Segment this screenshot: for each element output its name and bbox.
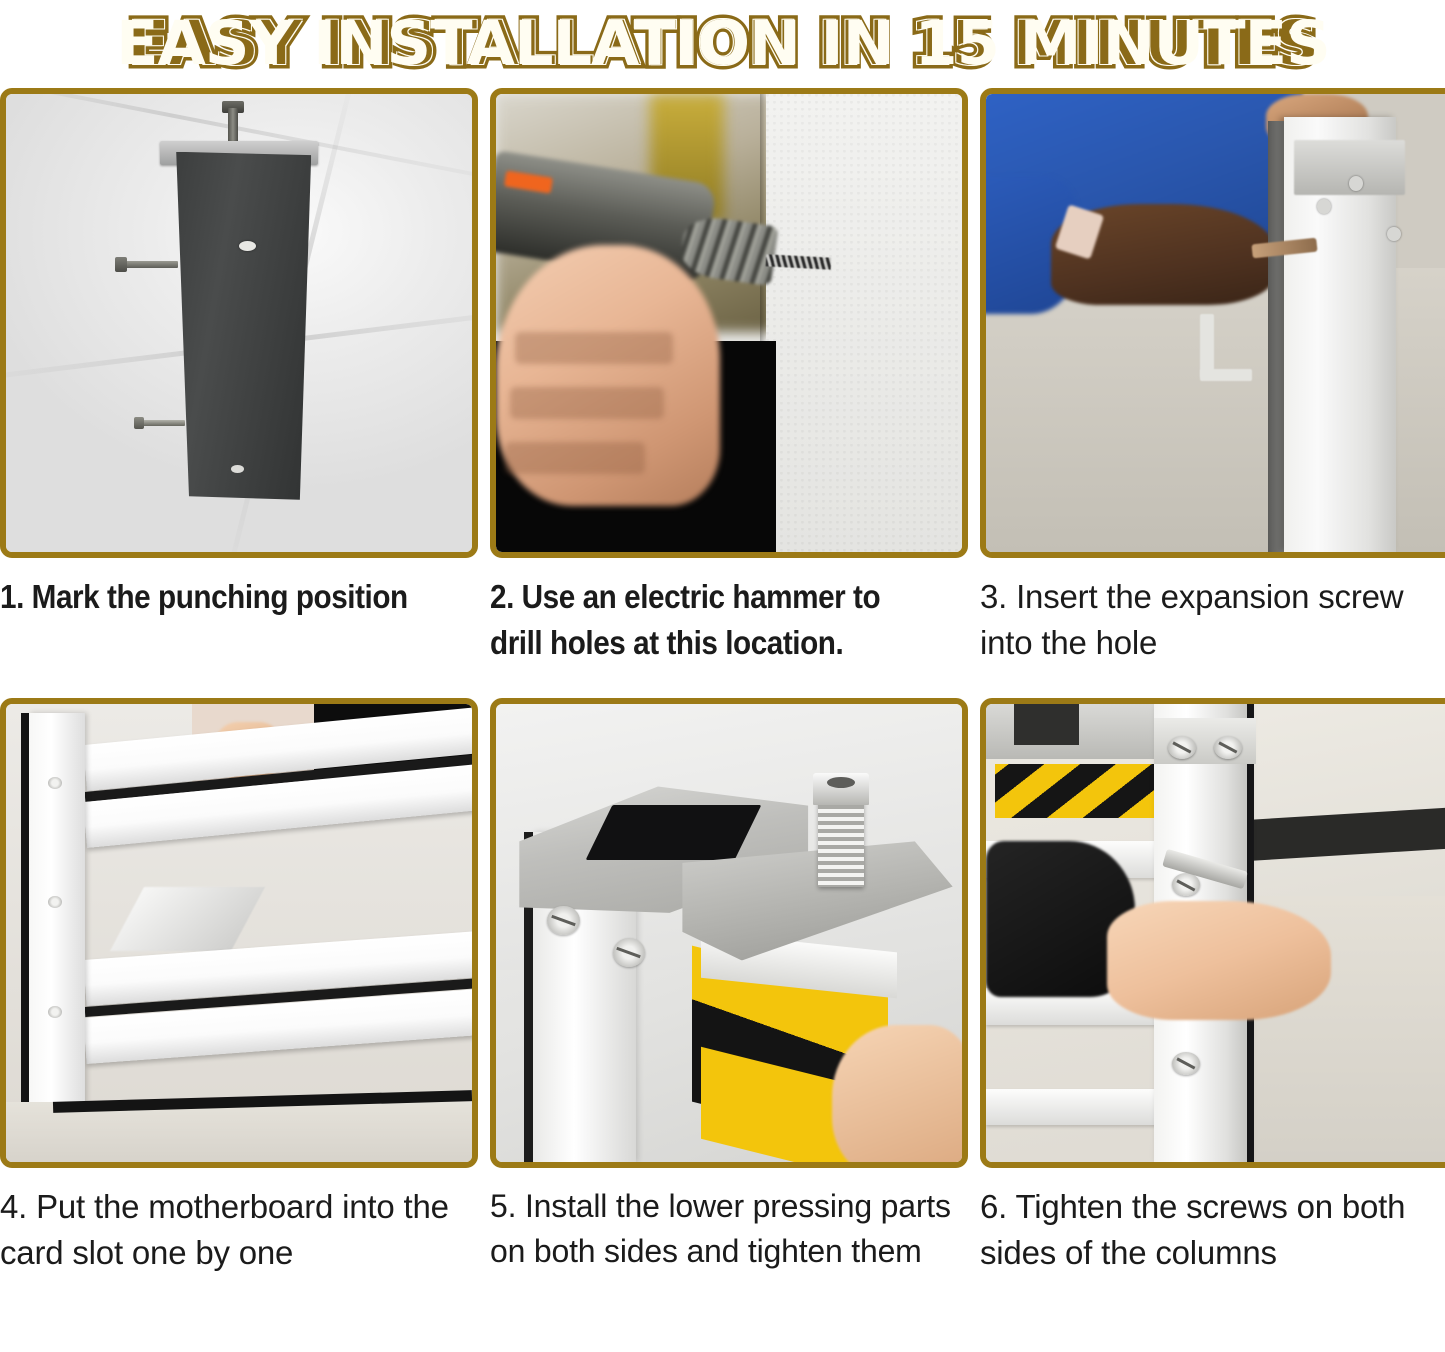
step-3-caption: 3. Insert the expansion screw into the h… xyxy=(980,574,1445,666)
step-5-photo xyxy=(496,704,962,1162)
screw-icon xyxy=(547,906,580,936)
mounting-hole-icon xyxy=(231,465,244,473)
step-3-photo xyxy=(986,94,1445,552)
step-card-4: 4. Put the motherboard into the card slo… xyxy=(0,698,478,1310)
step-card-1: 1. Mark the punching position xyxy=(0,88,478,698)
background-shadow-icon xyxy=(1014,704,1079,745)
bolt-icon xyxy=(118,261,179,268)
step-card-3: 3. Insert the expansion screw into the h… xyxy=(980,88,1445,698)
step-2-caption: 2. Use an electric hammer to drill holes… xyxy=(490,574,920,666)
screw-icon xyxy=(48,1006,62,1018)
hand-icon xyxy=(1107,901,1331,1020)
allen-key-icon xyxy=(1200,369,1251,381)
threaded-stud-icon xyxy=(228,108,238,145)
step-4-caption: 4. Put the motherboard into the card slo… xyxy=(0,1184,478,1276)
page-title: EASY INSTALLATION IN 15 MINUTES EASY INS… xyxy=(128,12,1318,76)
bracket-slot-icon xyxy=(585,805,761,860)
screw-icon xyxy=(1168,736,1196,759)
steps-row-1: 1. Mark the punching position xyxy=(0,88,1445,698)
bolt-head-icon xyxy=(134,417,144,429)
diagonal-strut-icon xyxy=(110,887,265,951)
screw-icon xyxy=(1214,736,1242,759)
screw-icon xyxy=(48,777,62,789)
page-title-outline: EASY INSTALLATION IN 15 MINUTES xyxy=(128,8,1318,79)
marking-template-icon xyxy=(169,152,311,500)
screw-icon xyxy=(613,938,646,968)
step-6-photo xyxy=(986,704,1445,1162)
step-6-caption: 6. Tighten the screws on both sides of t… xyxy=(980,1184,1445,1276)
step-card-2: 2. Use an electric hammer to drill holes… xyxy=(490,88,968,698)
step-5-caption: 5. Install the lower pressing parts on b… xyxy=(490,1184,968,1274)
step-2-photo xyxy=(496,94,962,552)
bolt-head-icon xyxy=(115,257,127,272)
step-card-5: 5. Install the lower pressing parts on b… xyxy=(490,698,968,1310)
step-4-photo-frame xyxy=(0,698,478,1168)
step-card-6: 6. Tighten the screws on both sides of t… xyxy=(980,698,1445,1310)
step-1-photo-frame xyxy=(0,88,478,558)
step-3-photo-frame xyxy=(980,88,1445,558)
step-1-caption: 1. Mark the punching position xyxy=(0,574,430,620)
step-5-photo-frame xyxy=(490,698,968,1168)
hand-icon xyxy=(832,1025,962,1162)
page-title-bar: EASY INSTALLATION IN 15 MINUTES EASY INS… xyxy=(0,0,1445,88)
step-1-photo xyxy=(6,94,472,552)
finger-crease-icon xyxy=(510,387,664,419)
finger-crease-icon xyxy=(515,332,673,364)
finger-crease-icon xyxy=(505,442,645,474)
aluminum-board-icon xyxy=(986,1089,1158,1126)
screw-icon xyxy=(1317,199,1331,214)
steps-row-2: 4. Put the motherboard into the card slo… xyxy=(0,698,1445,1310)
step-6-photo-frame xyxy=(980,698,1445,1168)
screw-icon xyxy=(1387,227,1401,242)
installation-steps-grid: 1. Mark the punching position xyxy=(0,88,1445,1352)
step-4-photo xyxy=(6,704,472,1162)
hazard-stripe-icon xyxy=(995,764,1153,819)
mounting-hole-icon xyxy=(239,241,256,251)
step-2-photo-frame xyxy=(490,88,968,558)
textured-wall-icon xyxy=(766,94,962,552)
